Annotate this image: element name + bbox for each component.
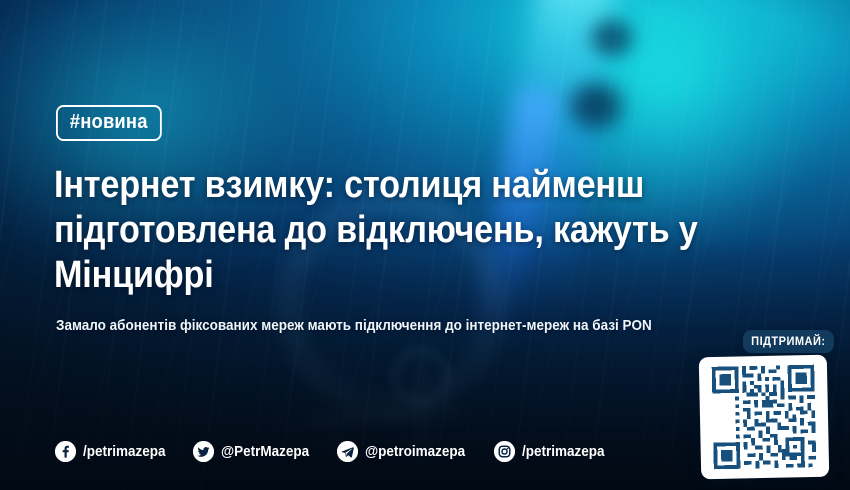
- qr-code[interactable]: [699, 355, 830, 480]
- social-handle: @petroimazepa: [365, 443, 465, 460]
- instagram-icon: [494, 441, 515, 462]
- social-link-twitter[interactable]: @PetrMazepa: [193, 441, 319, 462]
- support-label: ПІДТРИМАЙ:: [743, 330, 834, 353]
- social-bar: /petrimazepa @PetrMazepa @petroimazepa /…: [55, 441, 614, 462]
- qr-code-image: [705, 361, 823, 473]
- subtitle-text: Замало абонентів фіксованих мереж мають …: [56, 316, 740, 336]
- telegram-icon: [337, 441, 358, 462]
- card-content: #новина Інтернет взимку: столиця найменш…: [0, 0, 850, 490]
- social-handle: /petrimazepa: [522, 443, 605, 460]
- social-link-facebook[interactable]: /petrimazepa: [55, 441, 175, 462]
- category-tag[interactable]: #новина: [56, 105, 161, 141]
- support-block: ПІДТРИМАЙ:: [698, 330, 838, 482]
- social-link-telegram[interactable]: @petroimazepa: [337, 441, 476, 462]
- social-handle: /petrimazepa: [83, 443, 166, 460]
- news-card: #новина Інтернет взимку: столиця найменш…: [0, 0, 850, 490]
- twitter-icon: [193, 441, 214, 462]
- facebook-icon: [55, 441, 76, 462]
- social-link-instagram[interactable]: /petrimazepa: [494, 441, 614, 462]
- social-handle: @PetrMazepa: [221, 443, 309, 460]
- page-title: Інтернет взимку: столиця найменш підгото…: [54, 163, 738, 297]
